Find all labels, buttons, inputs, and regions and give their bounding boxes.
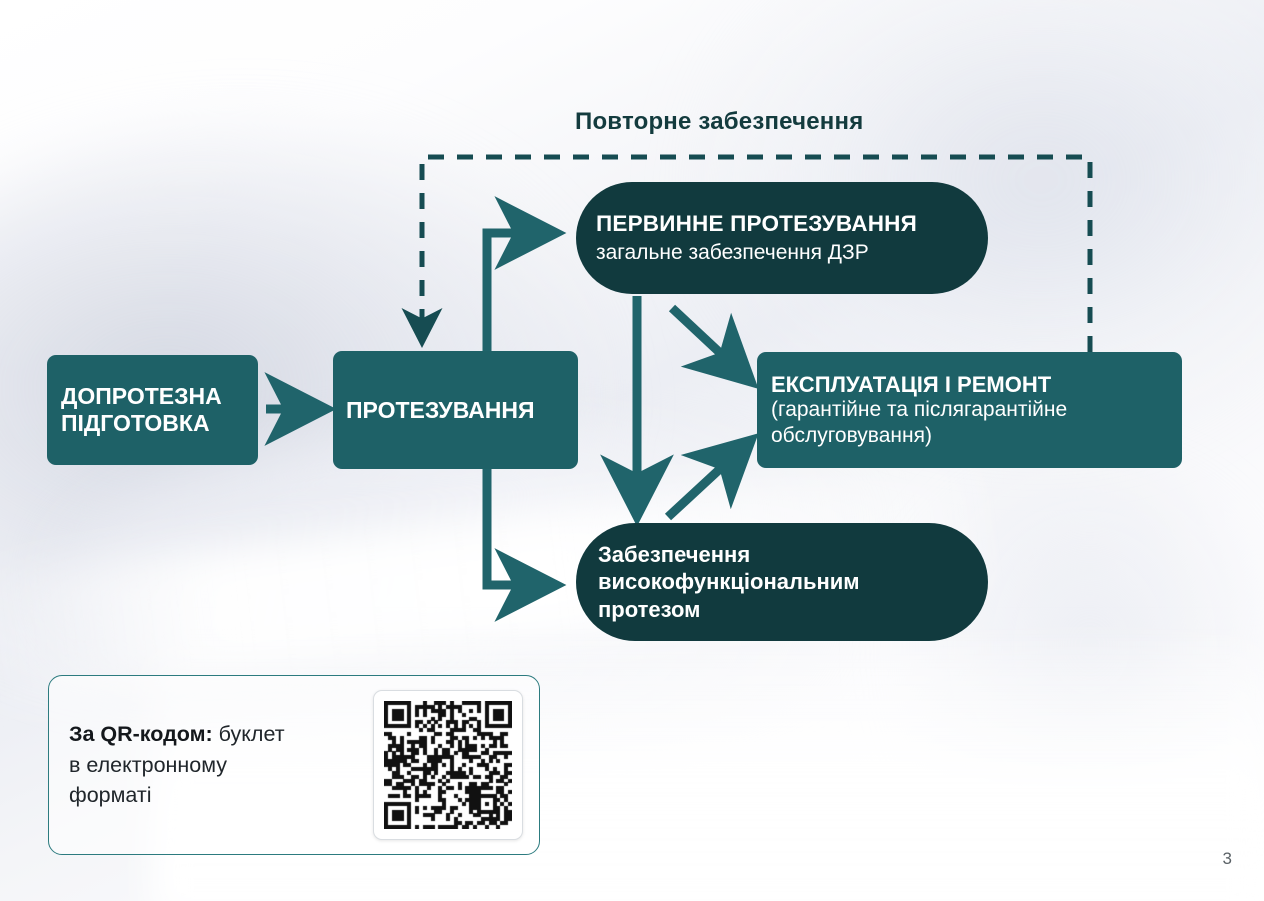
node-high-functional-title-line1: Забезпечення [598, 541, 988, 568]
qr-card-line2: в електронному [69, 750, 373, 781]
qr-card-label: За QR-кодом: [69, 722, 213, 746]
connector-prosthetics-to-primary [487, 233, 552, 351]
node-exploitation-title: ЕКСПЛУАТАЦІЯ І РЕМОНТ [771, 372, 1182, 398]
qr-code-card[interactable]: За QR-кодом: буклет в електронному форма… [48, 675, 540, 855]
node-pre-prosthetic-preparation[interactable]: ДОПРОТЕЗНА ПІДГОТОВКА [47, 355, 258, 465]
node-exploitation-and-repair[interactable]: ЕКСПЛУАТАЦІЯ І РЕМОНТ (гарантійне та піс… [757, 352, 1182, 468]
node-pre-prosthetic-title-line2: ПІДГОТОВКА [61, 410, 258, 437]
node-high-functional-title-line2: високофункціональним [598, 568, 988, 595]
node-exploitation-subtitle-line1: (гарантійне та післягарантійне [771, 397, 1182, 423]
node-exploitation-subtitle-line2: обслуговування) [771, 423, 1182, 449]
qr-code-canvas [384, 701, 512, 829]
node-high-functional-title-line3: протезом [598, 596, 988, 623]
qr-card-rest: буклет [213, 722, 285, 746]
node-primary-prosthetics[interactable]: ПЕРВИННЕ ПРОТЕЗУВАННЯ загальне забезпече… [576, 182, 988, 294]
connector-primary-to-exploitation [672, 308, 748, 379]
connector-prosthetics-to-highfunc [487, 469, 552, 585]
node-primary-prosthetics-title: ПЕРВИННЕ ПРОТЕЗУВАННЯ [596, 211, 988, 237]
connector-highfunc-to-exploitation [668, 443, 748, 517]
qr-code-icon[interactable] [373, 690, 523, 840]
qr-card-text: За QR-кодом: буклет в електронному форма… [49, 719, 373, 811]
node-high-functional-prosthesis[interactable]: Забезпечення високофункціональним протез… [576, 523, 988, 641]
qr-card-line3: форматі [69, 780, 373, 811]
qr-card-line1: За QR-кодом: буклет [69, 719, 373, 750]
node-prosthetics-title: ПРОТЕЗУВАННЯ [346, 397, 578, 424]
node-primary-prosthetics-subtitle: загальне забезпечення ДЗР [596, 240, 988, 265]
node-pre-prosthetic-title-line1: ДОПРОТЕЗНА [61, 383, 258, 410]
node-prosthetics[interactable]: ПРОТЕЗУВАННЯ [333, 351, 578, 469]
page-number: 3 [1223, 849, 1232, 869]
slide-canvas: Повторне забезпечення [0, 0, 1264, 901]
